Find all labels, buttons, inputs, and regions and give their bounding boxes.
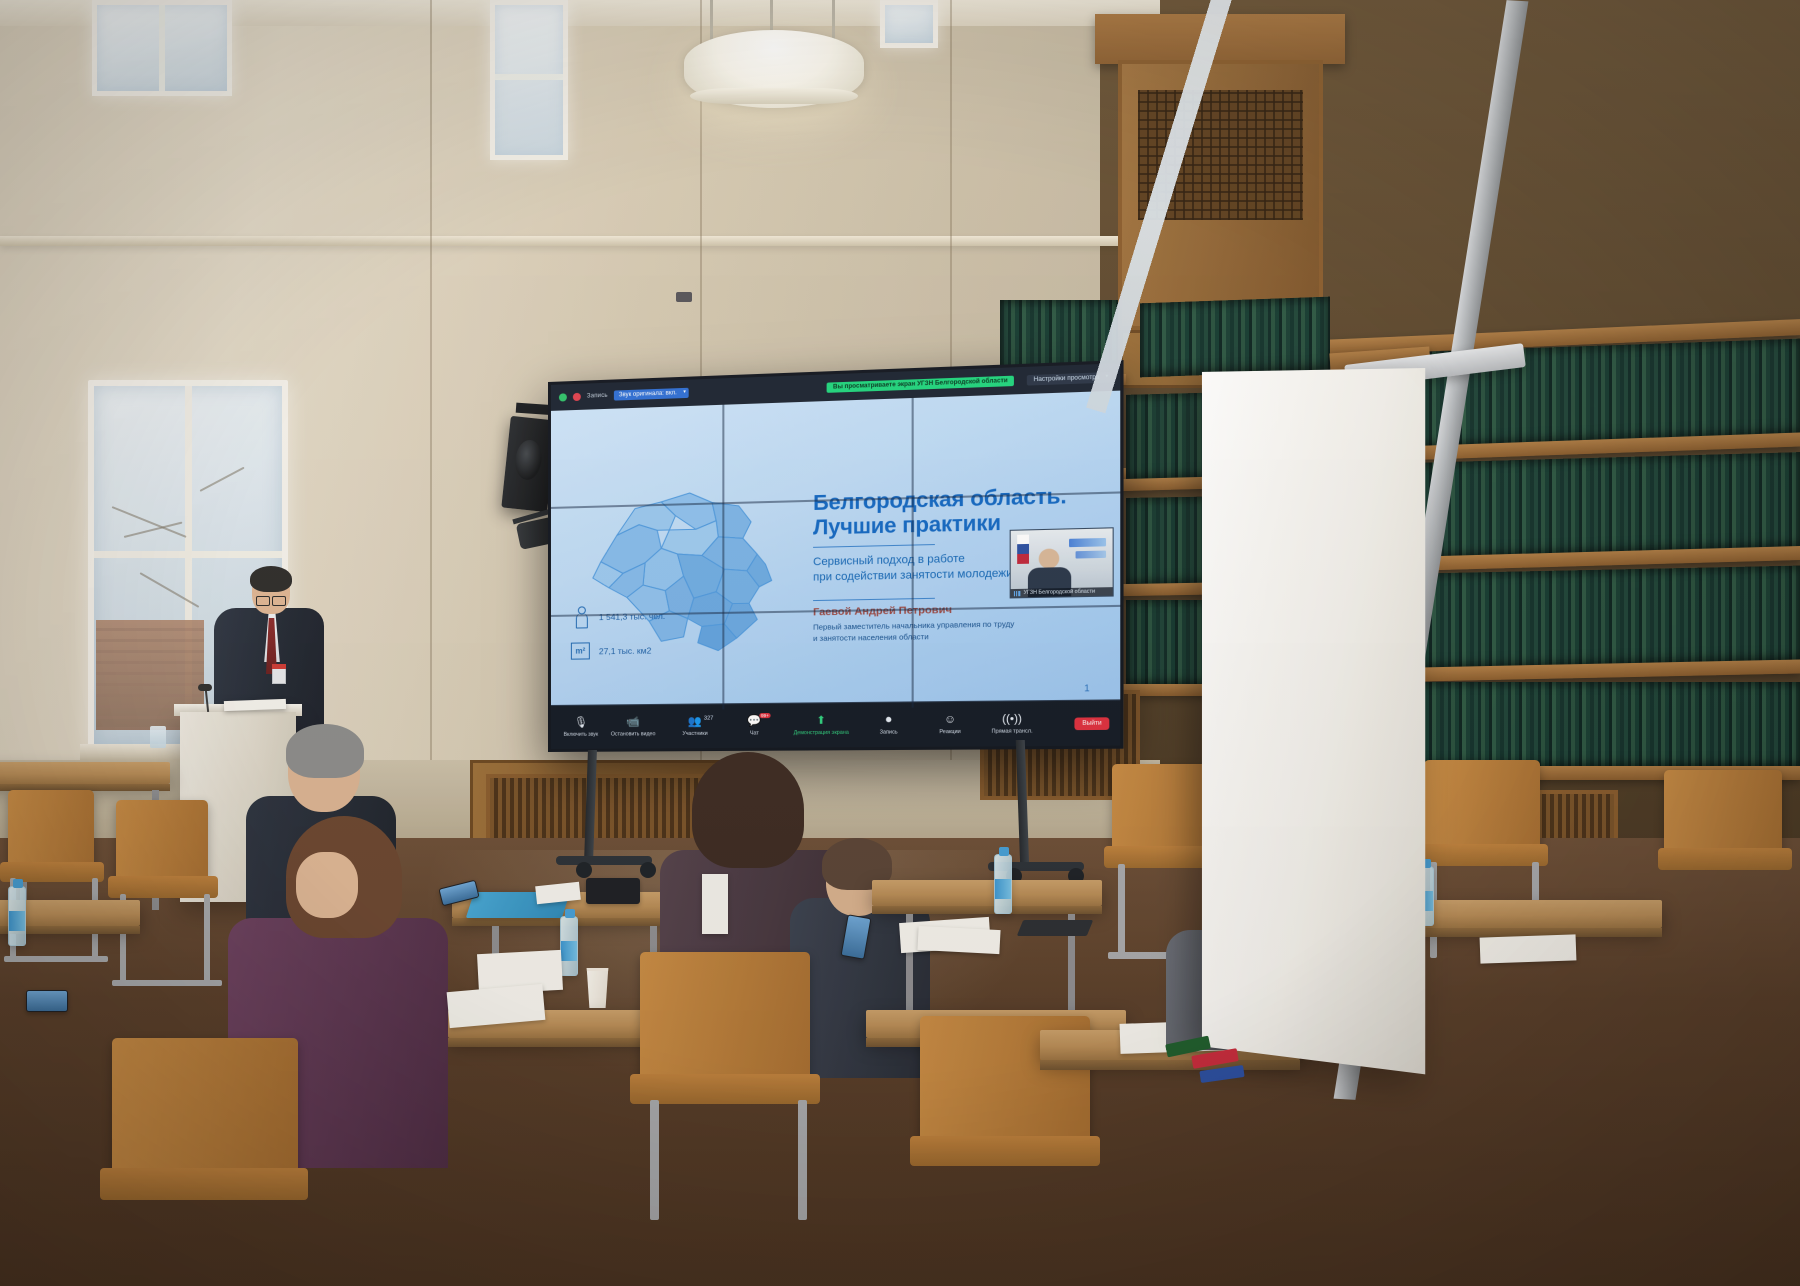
bezel-seam (912, 398, 914, 708)
participants-button[interactable]: 👥 327 Участники (675, 716, 716, 737)
video-wall-screen[interactable]: Запись Звук оригинала: вкл. Вы просматри… (551, 363, 1120, 749)
reactions-button[interactable]: ☺ Реакции (929, 714, 972, 735)
ceiling-sensor-icon (676, 292, 692, 302)
attendee-2-face (296, 852, 358, 918)
video-wall-display[interactable]: Запись Звук оригинала: вкл. Вы просматри… (548, 360, 1124, 752)
chair-seat (1418, 844, 1548, 866)
share-screen-icon: ⬆ (816, 715, 826, 726)
camera-icon: 📹 (626, 717, 640, 728)
signal-icon (1014, 590, 1020, 595)
attendee-1-hair (286, 724, 364, 778)
stat-area-value: 27,1 тыс. км2 (599, 645, 651, 656)
participant-thumbnail[interactable]: УГЗН Белгородской области (1010, 527, 1114, 598)
table-edge (1040, 1060, 1300, 1070)
live-icon: ((•)) (1002, 713, 1022, 725)
presenter-hair (250, 566, 292, 592)
attendee-3-hair (692, 752, 804, 868)
upper-window-right (880, 0, 938, 48)
room-scene: Запись Звук оригинала: вкл. Вы просматри… (0, 0, 1800, 1286)
screen-share-banner: Вы просматриваете экран УГЗН Белгородско… (827, 376, 1014, 393)
record-icon: ⏺ (886, 714, 892, 725)
cornice (0, 236, 1160, 246)
water-bottle (560, 916, 578, 976)
water-bottle (8, 886, 26, 946)
book-row (1140, 297, 1330, 378)
reactions-icon: ☺ (944, 714, 956, 725)
region-map (565, 459, 799, 656)
upper-window-left (92, 0, 232, 96)
end-meeting-button[interactable]: Выйти (1075, 717, 1110, 730)
pendant-lamp-rim (690, 88, 858, 104)
chair-back (112, 1038, 298, 1178)
live-label: Прямая трансл. (992, 728, 1033, 735)
chair-back (1664, 770, 1782, 856)
laptop[interactable] (1017, 920, 1093, 936)
chair-seat (1658, 848, 1792, 870)
attendee-3-lanyard (702, 874, 728, 934)
participants-label: Участники (682, 730, 707, 736)
chat-label: Чат (750, 730, 759, 736)
table-edge (872, 906, 1102, 914)
subtitle-divider (813, 598, 935, 601)
flag-icon (1017, 535, 1029, 564)
bottle-label (561, 941, 577, 961)
stat-population-value: 1 541,3 тыс. чел. (599, 610, 665, 621)
chair-leg (1118, 864, 1125, 958)
eyeglass-case (586, 878, 640, 904)
glasses-icon (256, 596, 286, 604)
speaker-cone-icon (513, 439, 543, 481)
microphone-icon: 🎙 (574, 717, 588, 728)
chair-back (8, 790, 94, 870)
participants-count: 327 (704, 715, 713, 721)
stat-area: m² 27,1 тыс. км2 (571, 641, 651, 659)
record-label: Запись (880, 729, 898, 735)
pip-logo-secondary (1076, 551, 1107, 559)
video-label: Остановить видео (611, 731, 656, 737)
recording-label: Запись (587, 393, 608, 400)
chair-leg (798, 1100, 807, 1220)
presenter-badge-strip (272, 664, 286, 669)
slide-speaker-role: Первый заместитель начальника управления… (813, 618, 1111, 644)
encryption-shield-icon (559, 393, 567, 401)
chair-leg (650, 1100, 659, 1220)
book-row (1380, 566, 1800, 671)
phone-screen (27, 991, 67, 1011)
chat-button[interactable]: 💬 99+ Чат (734, 716, 775, 737)
bottle-label (9, 911, 25, 931)
book-row (1380, 682, 1800, 768)
drinking-glass (150, 726, 166, 748)
flipchart-board (1202, 368, 1425, 1074)
recording-dot-icon (573, 393, 581, 401)
pip-name-bar: УГЗН Белгородской области (1011, 587, 1113, 597)
paper-sheet (1480, 934, 1577, 963)
chair-base (112, 980, 222, 986)
chair-back (1424, 760, 1540, 852)
chair-seat (100, 1168, 308, 1200)
video-button[interactable]: 📹 Остановить видео (611, 717, 656, 738)
phone (26, 990, 68, 1012)
table (1412, 900, 1662, 928)
chair-leg (204, 894, 210, 986)
microphone-icon (198, 684, 212, 691)
chair-seat (630, 1074, 820, 1104)
slide-page-number: 1 (1084, 683, 1089, 694)
area-icon: m² (571, 642, 590, 659)
record-button[interactable]: ⏺ Запись (868, 714, 910, 735)
audio-source-chip[interactable]: Звук оригинала: вкл. (614, 388, 689, 401)
table (0, 762, 170, 784)
share-label: Демонстрация экрана (794, 729, 849, 736)
bottle-label (995, 879, 1011, 899)
caster-wheel-icon (576, 862, 592, 878)
chair-back (640, 952, 810, 1082)
paper-sheet (917, 926, 1000, 954)
share-screen-button[interactable]: ⬆ Демонстрация экрана (794, 715, 849, 736)
upper-window-mid (490, 0, 568, 160)
title-divider (813, 544, 935, 548)
live-stream-button[interactable]: ((•)) Прямая трансл. (991, 713, 1034, 734)
mic-label: Включить звук (564, 731, 599, 737)
chat-badge: 99+ (759, 712, 771, 717)
chair-base (4, 956, 108, 962)
chair-seat (910, 1136, 1100, 1166)
mic-button[interactable]: 🎙 Включить звук (561, 717, 601, 737)
pip-logo (1069, 538, 1106, 547)
shared-slide: Белгородская область. Лучшие практики Се… (551, 391, 1120, 711)
person-icon (571, 606, 590, 627)
table (872, 880, 1102, 906)
tv-stand-foot (556, 856, 652, 865)
chair-back (116, 800, 208, 884)
pip-participant-name: УГЗН Белгородской области (1024, 589, 1095, 597)
reactions-label: Реакции (939, 728, 960, 734)
people-icon: 👥 (688, 716, 702, 727)
videoconference-toolbar: 🎙 Включить звук 📹 Остановить видео 👥 327… (551, 699, 1120, 749)
caster-wheel-icon (640, 862, 656, 878)
water-bottle (994, 854, 1012, 914)
bezel-seam (722, 405, 724, 710)
